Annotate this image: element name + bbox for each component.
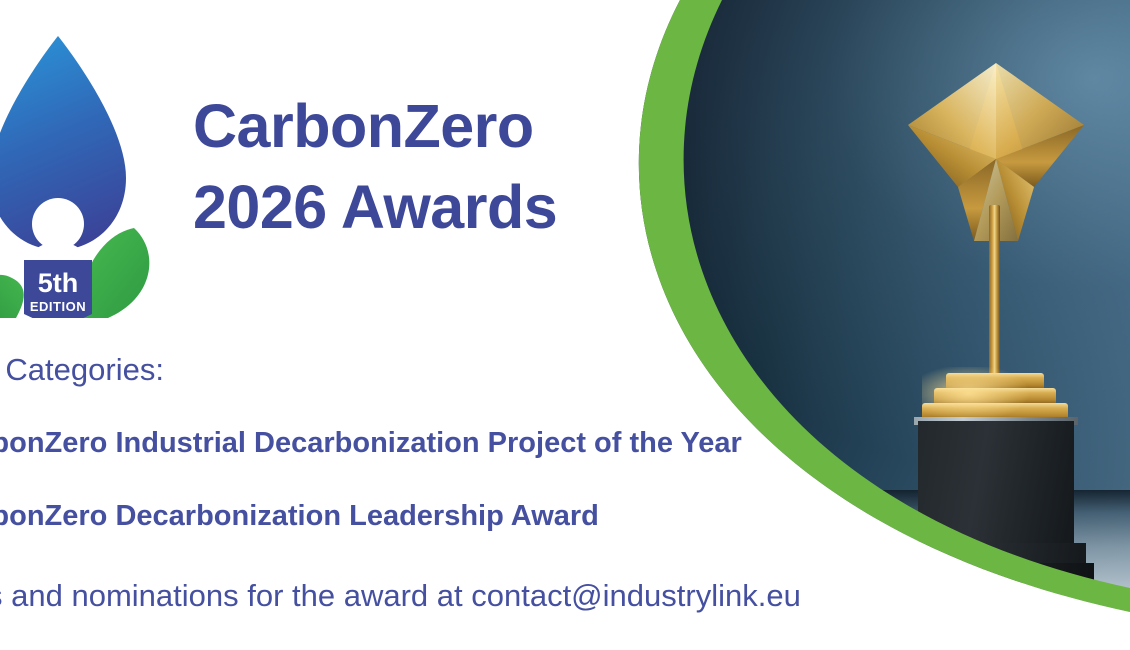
trophy-base-upper xyxy=(906,543,1086,565)
leaf-left xyxy=(0,275,24,318)
fifth-edition-badge: 5th EDITION xyxy=(24,260,92,318)
headline-line-2: 2026 Awards xyxy=(193,167,663,248)
content-area: 5th EDITION CarbonZero 2026 Awards ard C… xyxy=(0,0,700,650)
trophy-stem xyxy=(989,205,1000,380)
contact-line: ails and nominations for the award at co… xyxy=(0,578,801,614)
badge-line2: EDITION xyxy=(30,299,86,314)
trophy-shadow xyxy=(872,575,1122,605)
awards-banner: 5th EDITION CarbonZero 2026 Awards ard C… xyxy=(0,0,1130,650)
carbonzero-logo: 5th EDITION xyxy=(0,28,162,318)
categories-heading: ard Categories: xyxy=(0,352,164,388)
headline-line-1: CarbonZero xyxy=(193,92,534,160)
page-title: CarbonZero 2026 Awards xyxy=(193,86,663,248)
badge-line1: 5th xyxy=(38,268,79,298)
trophy-pedestal xyxy=(918,421,1074,549)
water-droplet xyxy=(0,36,126,250)
category-item-2: arbonZero Decarbonization Leadership Awa… xyxy=(0,500,599,533)
gold-star-trophy xyxy=(878,55,1108,555)
category-item-1: arbonZero Industrial Decarbonization Pro… xyxy=(0,427,742,460)
